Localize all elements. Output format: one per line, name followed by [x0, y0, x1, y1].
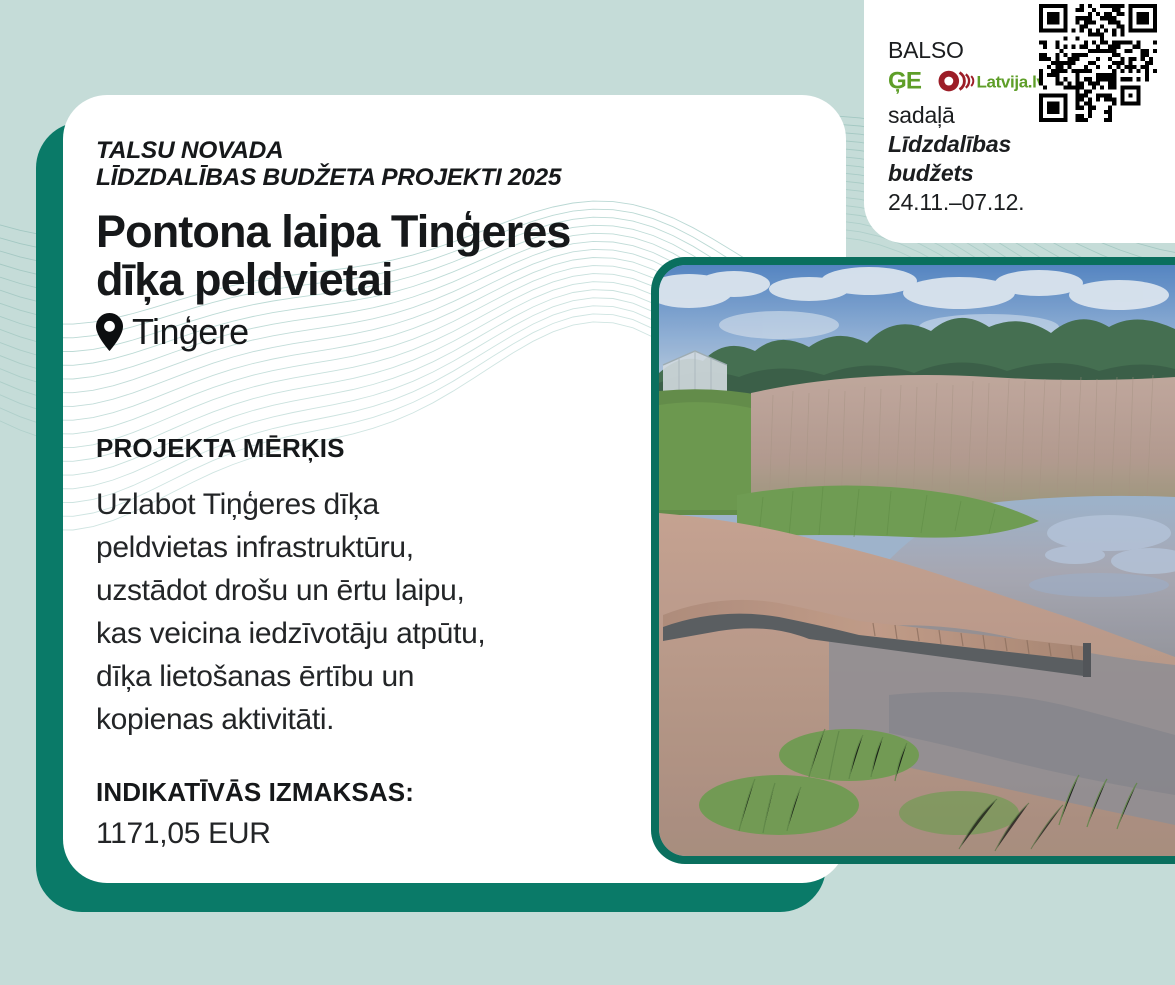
project-photo-frame	[651, 257, 1175, 864]
project-photo	[659, 265, 1175, 856]
vote-dates: 24.11.–07.12.	[888, 188, 1153, 217]
geo-latvija-logo[interactable]: ĢE Latvija.lv	[888, 68, 1040, 95]
svg-text:ĢE: ĢE	[888, 68, 922, 95]
vote-section-name-line2: budžets	[888, 159, 1153, 188]
vote-section-name-line1: Līdzdalības	[888, 130, 1153, 159]
svg-text:Latvija.lv: Latvija.lv	[977, 73, 1040, 92]
qr-code-icon[interactable]	[1039, 4, 1157, 122]
card-eyebrow: TALSU NOVADA LĪDZDALĪBAS BUDŽETA PROJEKT…	[96, 137, 806, 192]
map-pin-icon	[96, 313, 123, 351]
location-name: Tinģere	[132, 311, 249, 353]
vote-panel: BALSO ĢE Latvija.lv sadaļā Līdzdalības b…	[864, 0, 1175, 243]
goal-text: Uzlabot Tiņģeres dīķa peldvietas infrast…	[96, 484, 626, 741]
photo-illustration	[659, 265, 1175, 856]
